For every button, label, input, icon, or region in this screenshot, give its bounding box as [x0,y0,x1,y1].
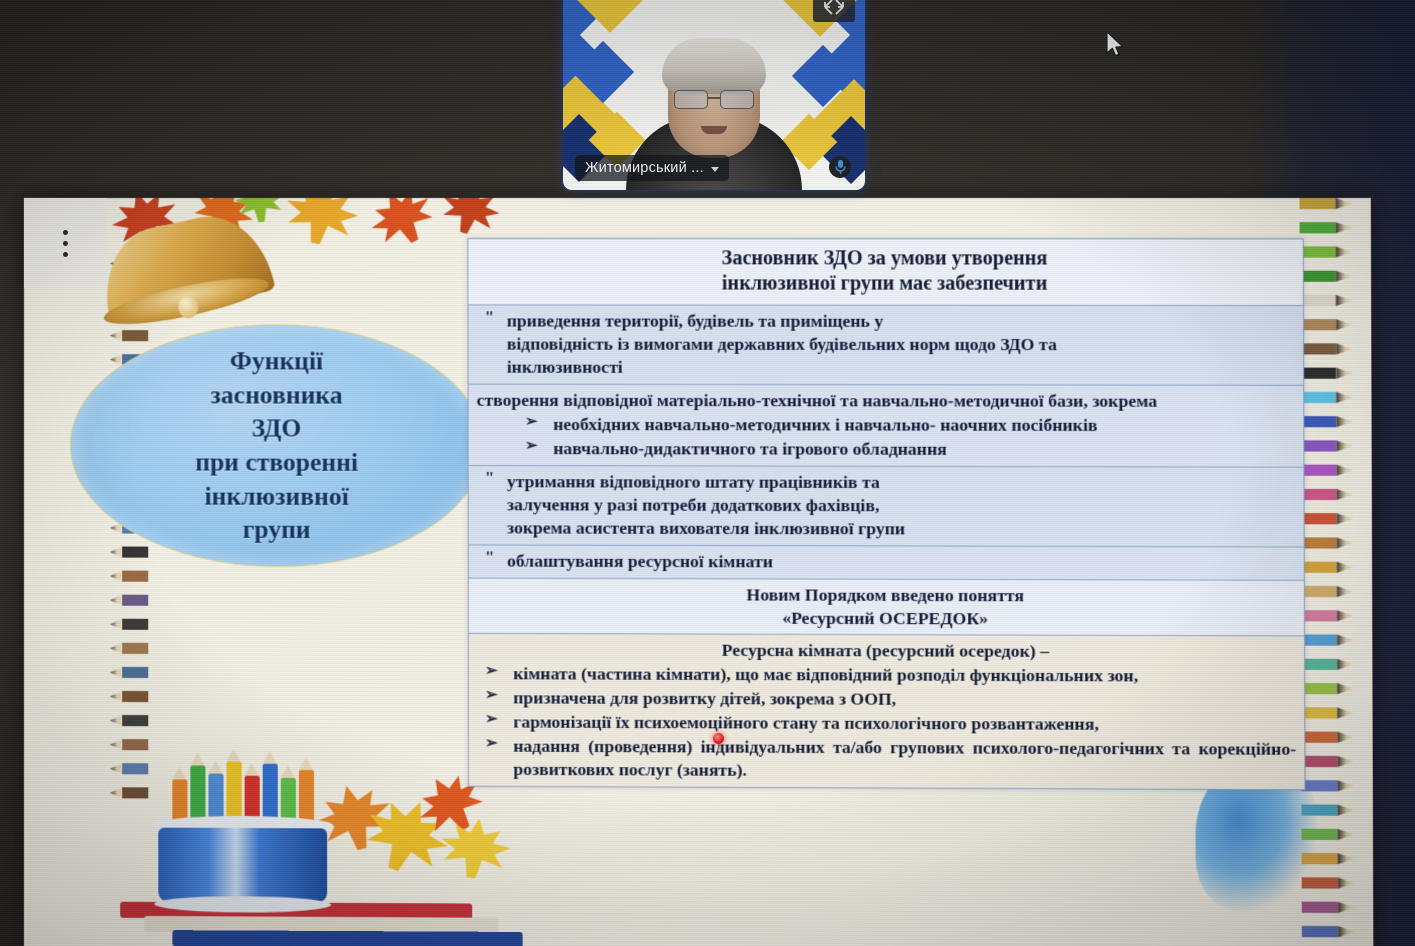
table-row: Ресурсна кімната (ресурсний осередок) – … [468,634,1305,790]
row5-line-2: «Ресурсний ОСЕРЕДОК» [477,605,1296,631]
definition-heading: Ресурсна кімната (ресурсний осередок) – [477,638,1296,664]
row2-sub-2: навчально-дидактичного та ігрового облад… [477,437,1296,462]
row3-line-1: утримання відповідного штату працівників… [507,471,880,492]
definition-item-1: кімната (частина кімнати), що має відпов… [477,662,1296,688]
chevron-down-icon[interactable] [711,167,719,172]
table-cell-resource-room-definition: Ресурсна кімната (ресурсний осередок) – … [468,634,1305,790]
table-cell-territory: приведення території, будівель та приміщ… [468,305,1304,385]
title-line-2: засновника [195,378,358,412]
row2-sublist: необхідних навчально-методичних і навчал… [477,413,1296,462]
more-options-button[interactable] [24,198,106,288]
table-cell-material-base: створення відповідної матеріально-техніч… [468,384,1304,467]
participant-video-tile[interactable]: Житомирський ... [563,0,865,190]
slide-title-ellipse: Функції засновника ЗДО при створенні інк… [70,324,484,567]
colored-pencils-right-decoration [1299,198,1355,946]
school-bell-decoration [100,222,268,330]
title-line-3: ЗДО [195,412,358,446]
row2-text: створення відповідної матеріально-техніч… [477,389,1295,413]
definition-list: кімната (частина кімнати), що має відпов… [477,662,1296,784]
row3-line-3: зокрема асистента вихователя інклюзивної… [507,517,905,538]
table-header-cell: Засновник ЗДО за умови утворення інклюзи… [468,239,1303,306]
shared-presentation-slide[interactable]: Функції засновника ЗДО при створенні інк… [24,198,1373,946]
row1-line-1: приведення території, будівель та приміщ… [507,311,883,331]
header-line-2: інклюзивної групи має забезпечити [479,271,1293,297]
title-line-1: Функції [195,344,358,378]
row1-line-3: інклюзивності [507,357,623,377]
definition-item-3: гармонізації їх психоемоційного стану та… [477,711,1296,737]
row2-sub-1: необхідних навчально-методичних і навчал… [477,413,1295,437]
photographed-screen: Житомирський ... [0,0,1415,946]
laser-pointer-dot [713,733,724,744]
table-row-header: Засновник ЗДО за умови утворення інклюзи… [468,239,1303,306]
title-line-5: інклюзивної [195,479,358,513]
title-line-6: групи [195,513,358,547]
table-row: утримання відповідного штату працівників… [468,465,1304,546]
participant-name-label: Житомирський ... [585,160,704,176]
row5-line-1: Новим Порядком введено поняття [477,582,1296,607]
table-cell-resource-room-setup: облаштування ресурсної кімнати [468,545,1304,580]
pencil-cup-decoration [142,729,343,931]
row4-line-1: облаштування ресурсної кімнати [507,550,773,571]
microphone-icon[interactable] [829,156,851,178]
slide-content-table: Засновник ЗДО за умови утворення інклюзи… [467,238,1305,790]
mouse-cursor [1105,31,1125,64]
autumn-leaves-bottom-decoration [325,770,516,892]
row1-line-2: відповідність із вимогами державних буді… [507,334,1057,355]
table-row: створення відповідної матеріально-техніч… [468,384,1304,467]
title-line-4: при створенні [195,445,358,479]
header-line-1: Засновник ЗДО за умови утворення [478,246,1292,272]
table-row: Новим Порядком введено поняття «Ресурсни… [468,578,1304,637]
table-cell-staff: утримання відповідного штату працівників… [468,465,1304,546]
collapse-arrows-icon[interactable] [813,0,855,22]
more-options-vertical-dots-icon [63,230,68,257]
table-cell-new-order-concept: Новим Порядком введено поняття «Ресурсни… [468,578,1304,637]
table-row: приведення території, будівель та приміщ… [468,305,1304,385]
row3-line-2: залучення у разі потреби додаткових фахі… [507,494,879,515]
definition-item-4: надання (проведення) індивідуальних та/а… [477,735,1296,785]
participant-name-bar[interactable]: Житомирський ... [575,155,729,181]
table-row: облаштування ресурсної кімнати [468,545,1304,580]
definition-item-2: призначена для розвитку дітей, зокрема з… [477,686,1296,712]
